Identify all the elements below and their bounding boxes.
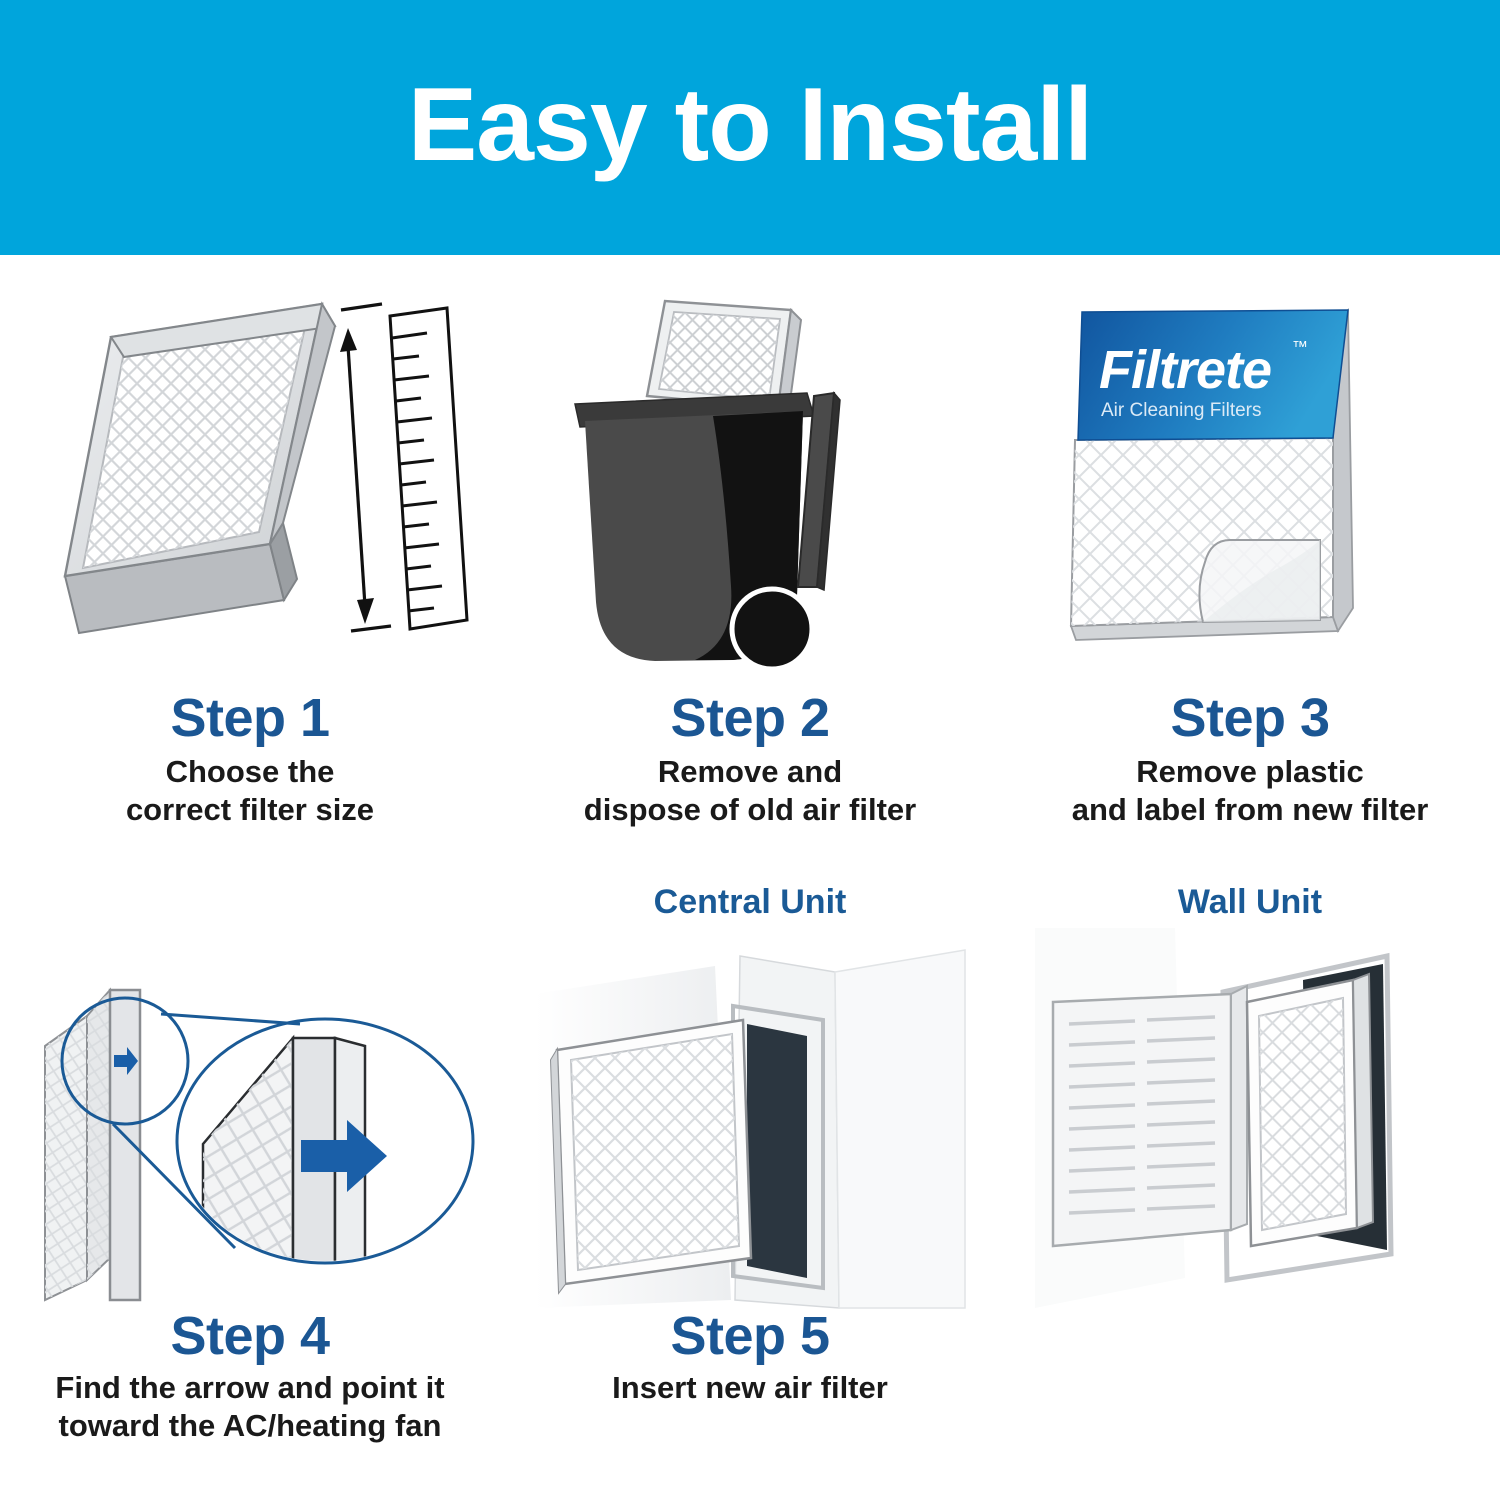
step-caption-1: Choose the correct filter size bbox=[126, 753, 374, 829]
arrow-head-up bbox=[340, 328, 357, 352]
arrow-head-down bbox=[357, 598, 374, 624]
unit-label-wall: Wall Unit bbox=[1178, 880, 1322, 924]
wall-far bbox=[835, 950, 965, 1308]
installed-filter bbox=[1245, 974, 1373, 1246]
step-title-3: Step 3 bbox=[1170, 690, 1329, 747]
step-card-3: Filtrete ™ Air Cleaning Filters Step 3 R… bbox=[1000, 290, 1500, 828]
brand-trademark: ™ bbox=[1292, 339, 1308, 356]
peeling-plastic bbox=[1199, 540, 1320, 622]
louvered-door bbox=[1053, 986, 1247, 1246]
step-card-4: Step 4 Find the arrow and point it towar… bbox=[0, 880, 500, 1444]
step-caption-4: Find the arrow and point it toward the A… bbox=[55, 1369, 444, 1445]
illustration-central-unit bbox=[535, 928, 965, 1308]
brand-tagline: Air Cleaning Filters bbox=[1101, 400, 1262, 421]
step-card-5-central: Central Unit bbox=[500, 880, 1000, 1444]
illustration-trash-bin bbox=[535, 290, 965, 690]
ruler-icon bbox=[390, 308, 467, 629]
new-filter-panel bbox=[551, 1020, 755, 1292]
step-title-5: Step 5 bbox=[670, 1308, 829, 1365]
filter-edge-view bbox=[35, 983, 140, 1308]
step-card-5-wall: Wall Unit bbox=[1000, 880, 1500, 1444]
step-card-2: Step 2 Remove and dispose of old air fil… bbox=[500, 290, 1000, 828]
measurement-arrow bbox=[341, 304, 391, 631]
step-caption-5: Insert new air filter bbox=[612, 1369, 888, 1407]
bin-wheel bbox=[732, 589, 812, 669]
steps-row-top: Step 1 Choose the correct filter size bbox=[0, 290, 1500, 828]
steps-row-bottom: Step 4 Find the arrow and point it towar… bbox=[0, 880, 1500, 1444]
step-title-2: Step 2 bbox=[670, 690, 829, 747]
bin-lid bbox=[798, 393, 840, 590]
brand-wordmark: Filtrete bbox=[1099, 340, 1271, 400]
step-card-1: Step 1 Choose the correct filter size bbox=[0, 290, 500, 828]
duct-opening bbox=[747, 1024, 807, 1278]
filter-body bbox=[65, 304, 335, 633]
illustration-wall-unit bbox=[1035, 928, 1465, 1308]
header-banner: Easy to Install bbox=[0, 0, 1500, 255]
spacer-label bbox=[245, 880, 254, 924]
unit-label-central: Central Unit bbox=[654, 880, 847, 924]
illustration-packaged-filter: Filtrete ™ Air Cleaning Filters bbox=[1035, 290, 1465, 690]
page-title: Easy to Install bbox=[408, 73, 1092, 177]
step-title-4: Step 4 bbox=[170, 1308, 329, 1365]
infographic-page: Easy to Install bbox=[0, 0, 1500, 1500]
step-caption-3: Remove plastic and label from new filter bbox=[1072, 753, 1429, 829]
illustration-airflow-arrow-magnifier bbox=[35, 928, 465, 1308]
step-title-1: Step 1 bbox=[170, 690, 329, 747]
illustration-filter-with-ruler bbox=[35, 290, 465, 690]
step-caption-2: Remove and dispose of old air filter bbox=[584, 753, 916, 829]
